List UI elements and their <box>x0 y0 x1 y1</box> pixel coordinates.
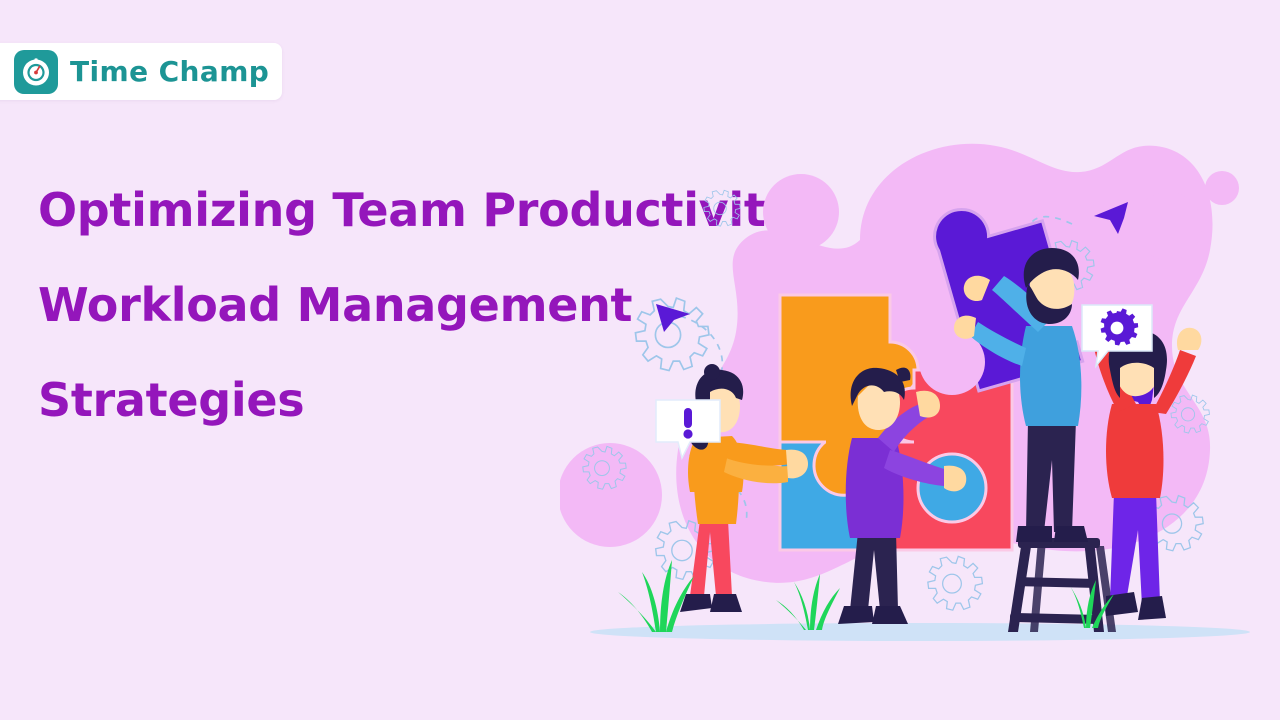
decor-circle-4 <box>560 443 662 547</box>
grass-left <box>618 560 694 632</box>
shoe-right <box>1054 526 1088 542</box>
torso <box>1106 404 1163 498</box>
banner-root: Time Champ Optimizing Team Productivity:… <box>0 0 1280 720</box>
shoe-left <box>1016 526 1052 542</box>
stopwatch-gauge-icon <box>14 50 58 94</box>
exclamation-dot <box>683 429 692 438</box>
shoe-left <box>680 594 712 612</box>
shoe-right <box>710 594 742 612</box>
leg-left <box>1110 492 1160 606</box>
ground-shadow <box>590 623 1250 641</box>
hair-tie <box>704 364 720 380</box>
shoe-left <box>838 606 874 624</box>
leg-left <box>850 532 898 610</box>
decor-circle-3 <box>1205 171 1239 205</box>
shoe-right <box>1138 596 1166 620</box>
brand-name: Time Champ <box>70 55 269 88</box>
torso <box>1020 326 1081 426</box>
gear-outline-small-2 <box>704 190 740 226</box>
team-assembling-puzzle-illustration <box>560 120 1280 720</box>
hand-right <box>1177 328 1201 350</box>
shoe-left <box>1106 592 1138 616</box>
ladder-step-mid <box>1016 577 1096 588</box>
decor-circle-2 <box>1134 192 1202 260</box>
decor-circle-1 <box>763 174 839 250</box>
exclamation-bar <box>684 408 692 428</box>
gear-outline-small-5 <box>928 556 983 610</box>
brand-logo-card[interactable]: Time Champ <box>0 43 282 100</box>
shoe-right <box>872 606 908 624</box>
